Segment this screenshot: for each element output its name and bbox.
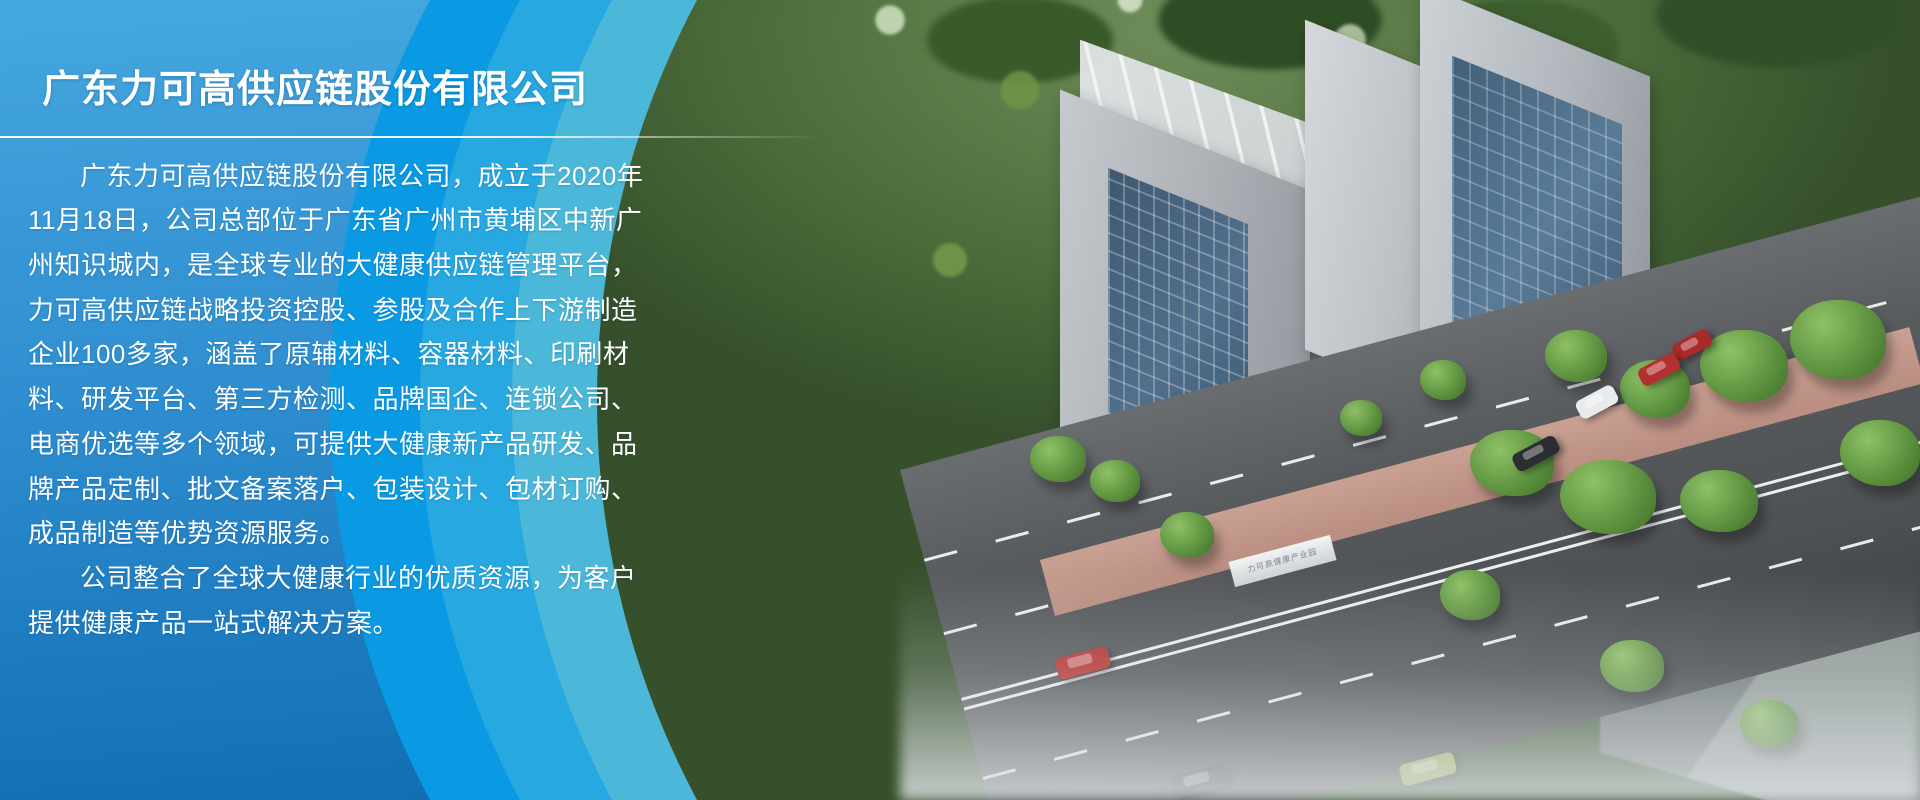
company-profile-banner: 力可高健康产业园 广东力可高供应链股份有限公司 广东力可高供应链股份有限公司，成…: [0, 0, 1920, 800]
tree: [1090, 460, 1140, 502]
tree: [1030, 436, 1086, 482]
description-paragraph-1: 广东力可高供应链股份有限公司，成立于2020年11月18日，公司总部位于广东省广…: [28, 154, 648, 556]
page-title: 广东力可高供应链股份有限公司: [0, 0, 700, 114]
tree: [1545, 330, 1607, 382]
text-panel: 广东力可高供应链股份有限公司 广东力可高供应链股份有限公司，成立于2020年11…: [0, 0, 700, 646]
bottom-haze: [900, 570, 1920, 800]
tree: [1680, 470, 1758, 532]
description-paragraph-2: 公司整合了全球大健康行业的优质资源，为客户提供健康产品一站式解决方案。: [28, 556, 648, 645]
tree: [1420, 360, 1466, 400]
tree: [1700, 330, 1788, 402]
aerial-photo-mask: 力可高健康产业园: [597, 0, 1920, 800]
aerial-architectural-rendering: 力可高健康产业园: [597, 0, 1920, 800]
tree: [1790, 300, 1886, 380]
tree: [1560, 460, 1656, 534]
company-description: 广东力可高供应链股份有限公司，成立于2020年11月18日，公司总部位于广东省广…: [0, 138, 648, 646]
tree: [1340, 400, 1382, 436]
tree: [1160, 512, 1214, 558]
tree: [1840, 420, 1920, 486]
